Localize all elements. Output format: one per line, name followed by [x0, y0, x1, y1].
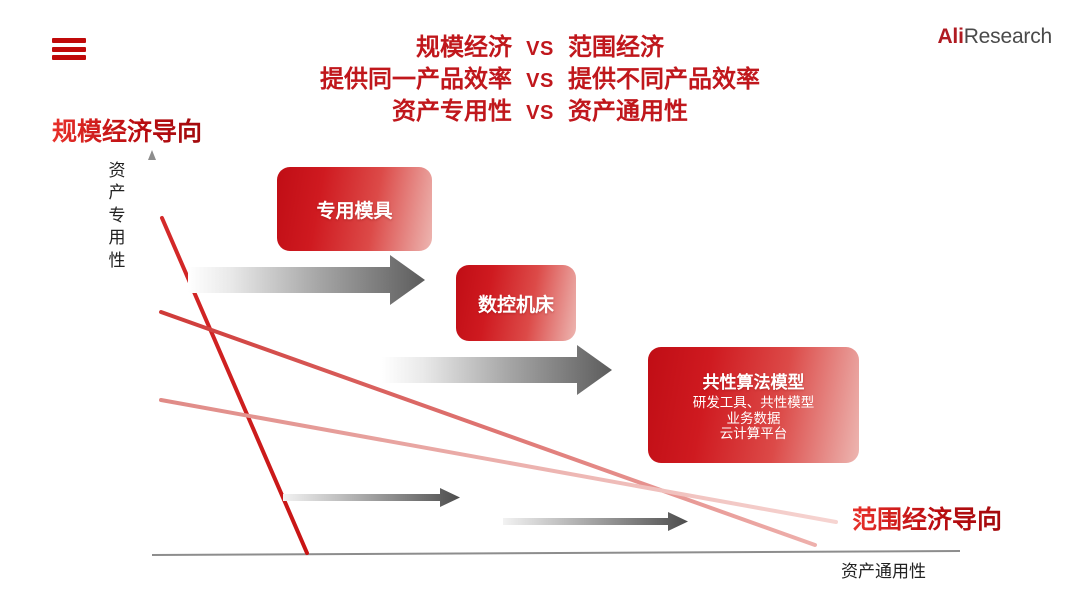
- box-common-algorithm-model-subtitle: 研发工具、共性模型 业务数据 云计算平台: [693, 395, 815, 443]
- box-special-mold-title: 专用模具: [316, 196, 392, 223]
- x-axis-line: [152, 551, 960, 555]
- box-algo-sub-line-2: 业务数据: [693, 411, 815, 427]
- y-axis-char-2: 产: [106, 182, 128, 204]
- flow-arrow-cnc-to-algo: [382, 345, 612, 395]
- box-common-algorithm-model[interactable]: 共性算法模型 研发工具、共性模型 业务数据 云计算平台: [648, 347, 859, 463]
- y-axis-char-3: 专: [106, 205, 128, 227]
- y-axis-arrowhead: [148, 150, 156, 160]
- thin-arrow-lower-left: [283, 488, 460, 507]
- y-axis-char-4: 用: [106, 227, 128, 249]
- y-axis-title: 资 产 专 用 性: [106, 160, 128, 272]
- thin-arrow-lower-right: [503, 512, 688, 531]
- box-cnc-machine[interactable]: 数控机床: [456, 265, 576, 341]
- x-axis-title: 资产通用性: [841, 557, 926, 582]
- box-algo-sub-line-3: 云计算平台: [693, 426, 815, 442]
- y-axis-char-1: 资: [106, 160, 128, 182]
- y-axis-char-5: 性: [106, 250, 128, 272]
- box-common-algorithm-model-title: 共性算法模型: [703, 368, 805, 393]
- box-algo-sub-line-1: 研发工具、共性模型: [693, 395, 815, 411]
- box-cnc-machine-title: 数控机床: [478, 290, 554, 317]
- box-special-mold[interactable]: 专用模具: [277, 167, 432, 251]
- flow-arrow-mold-to-cnc: [188, 255, 425, 305]
- slide-canvas: AliResearch 规模经济VS范围经济 提供同一产品效率VS提供不同产品效…: [0, 0, 1080, 608]
